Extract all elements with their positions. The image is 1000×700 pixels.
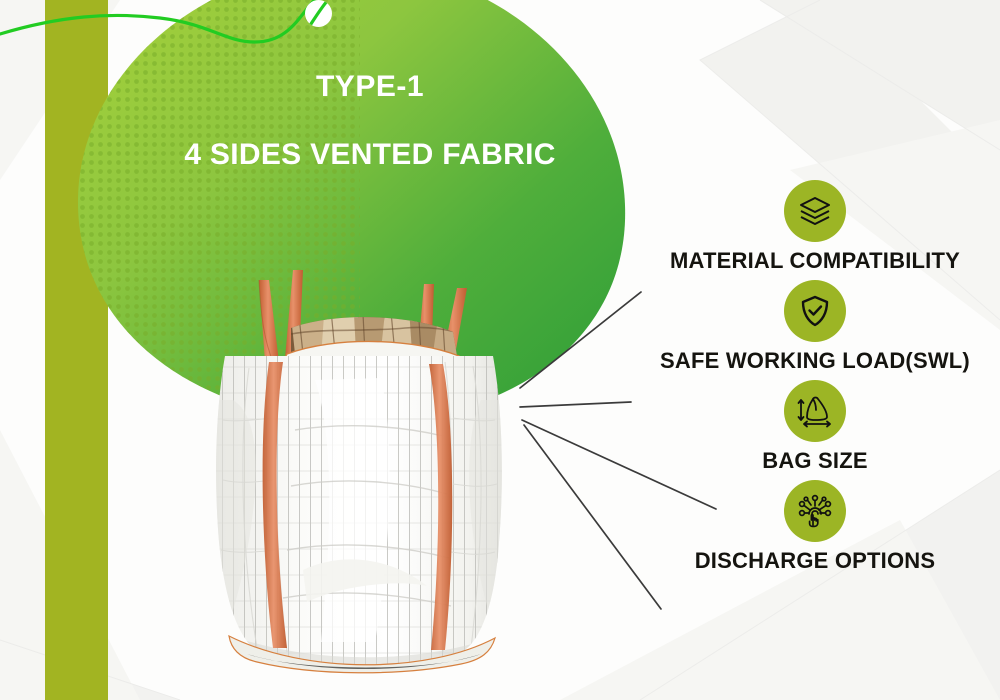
touch-network-icon <box>784 480 846 542</box>
feature-label: BAG SIZE <box>630 448 1000 474</box>
feature-label: SAFE WORKING LOAD(SWL) <box>630 348 1000 374</box>
feature-safe-working-load[interactable]: SAFE WORKING LOAD(SWL) <box>630 280 1000 374</box>
headline-subtitle: 4 SIDES VENTED FABRIC <box>110 140 630 170</box>
infographic-canvas: TYPE-1 4 SIDES VENTED FABRIC <box>0 0 1000 700</box>
green-wave-line <box>0 0 400 60</box>
feature-label: MATERIAL COMPATIBILITY <box>630 248 1000 274</box>
shield-check-icon <box>784 280 846 342</box>
feature-label: DISCHARGE OPTIONS <box>630 548 1000 574</box>
feature-discharge-options[interactable]: DISCHARGE OPTIONS <box>630 480 1000 574</box>
bag-dimensions-icon <box>784 380 846 442</box>
vented-fibc-bulk-bag <box>195 250 545 680</box>
bag-body <box>195 340 545 680</box>
feature-material-compatibility[interactable]: MATERIAL COMPATIBILITY <box>630 180 1000 274</box>
headline-block: TYPE-1 4 SIDES VENTED FABRIC <box>110 72 630 170</box>
headline-type: TYPE-1 <box>110 72 630 102</box>
layers-icon <box>784 180 846 242</box>
white-dot-line-overlay <box>305 0 332 27</box>
feature-list: MATERIAL COMPATIBILITY SAFE WORKING LOAD… <box>630 180 1000 580</box>
feature-bag-size[interactable]: BAG SIZE <box>630 380 1000 474</box>
